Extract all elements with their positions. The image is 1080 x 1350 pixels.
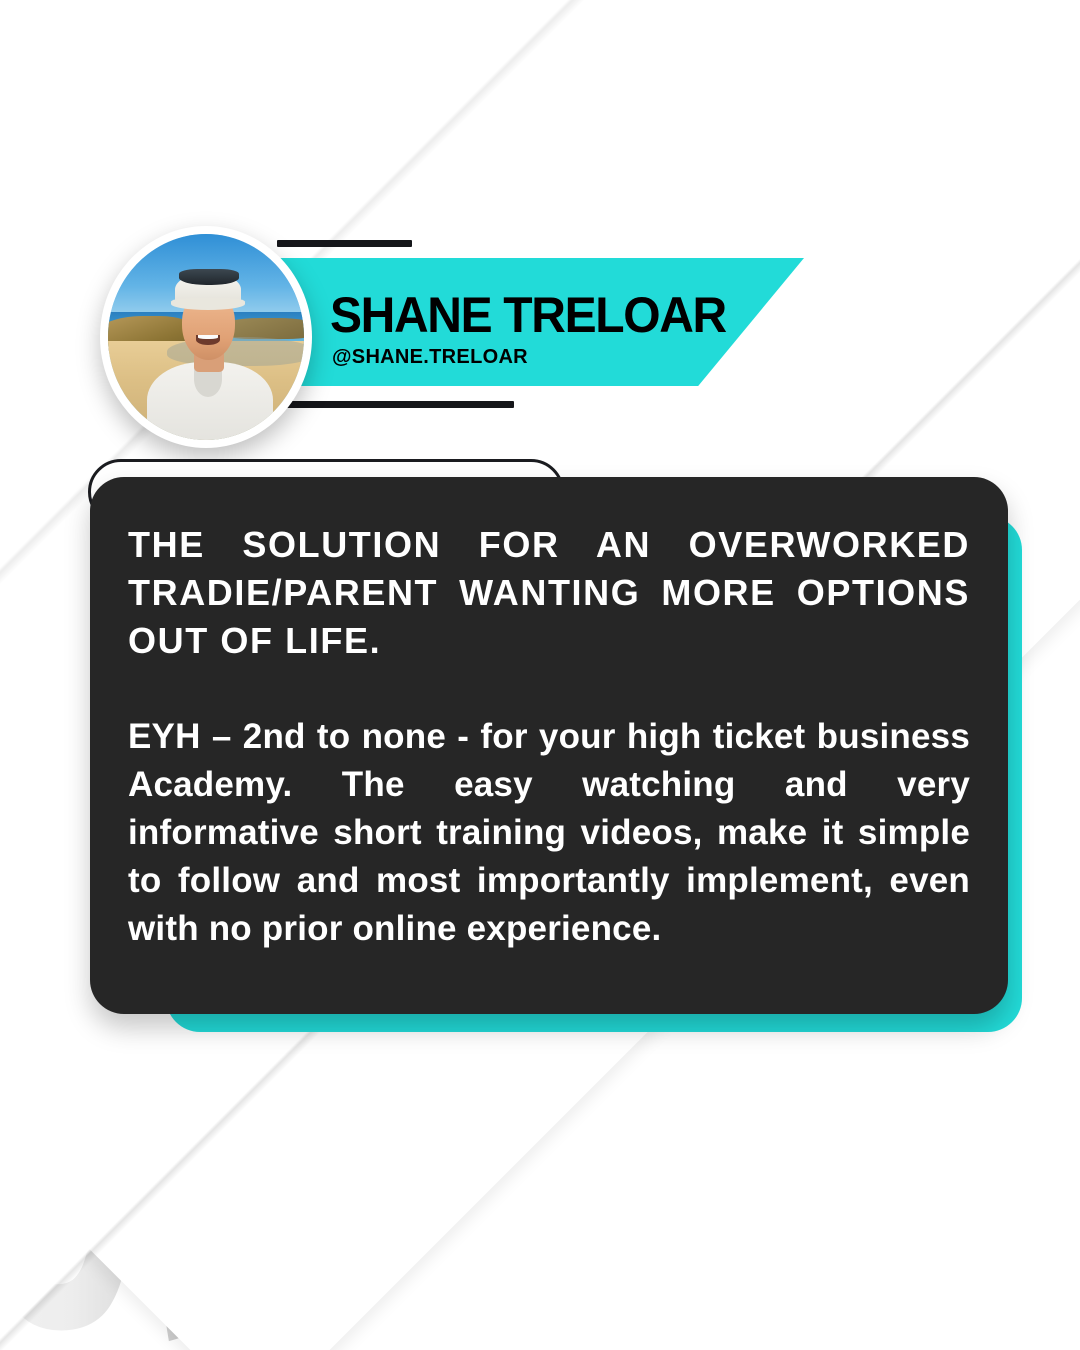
- testimonial-body: EYH – 2nd to none - for your high ticket…: [128, 713, 970, 953]
- testimonial-card-group: THE SOLUTION FOR AN OVERWORKED TRADIE/PA…: [0, 0, 1080, 1350]
- testimonial-headline: THE SOLUTION FOR AN OVERWORKED TRADIE/PA…: [128, 521, 970, 665]
- testimonial-card: THE SOLUTION FOR AN OVERWORKED TRADIE/PA…: [90, 477, 1008, 1014]
